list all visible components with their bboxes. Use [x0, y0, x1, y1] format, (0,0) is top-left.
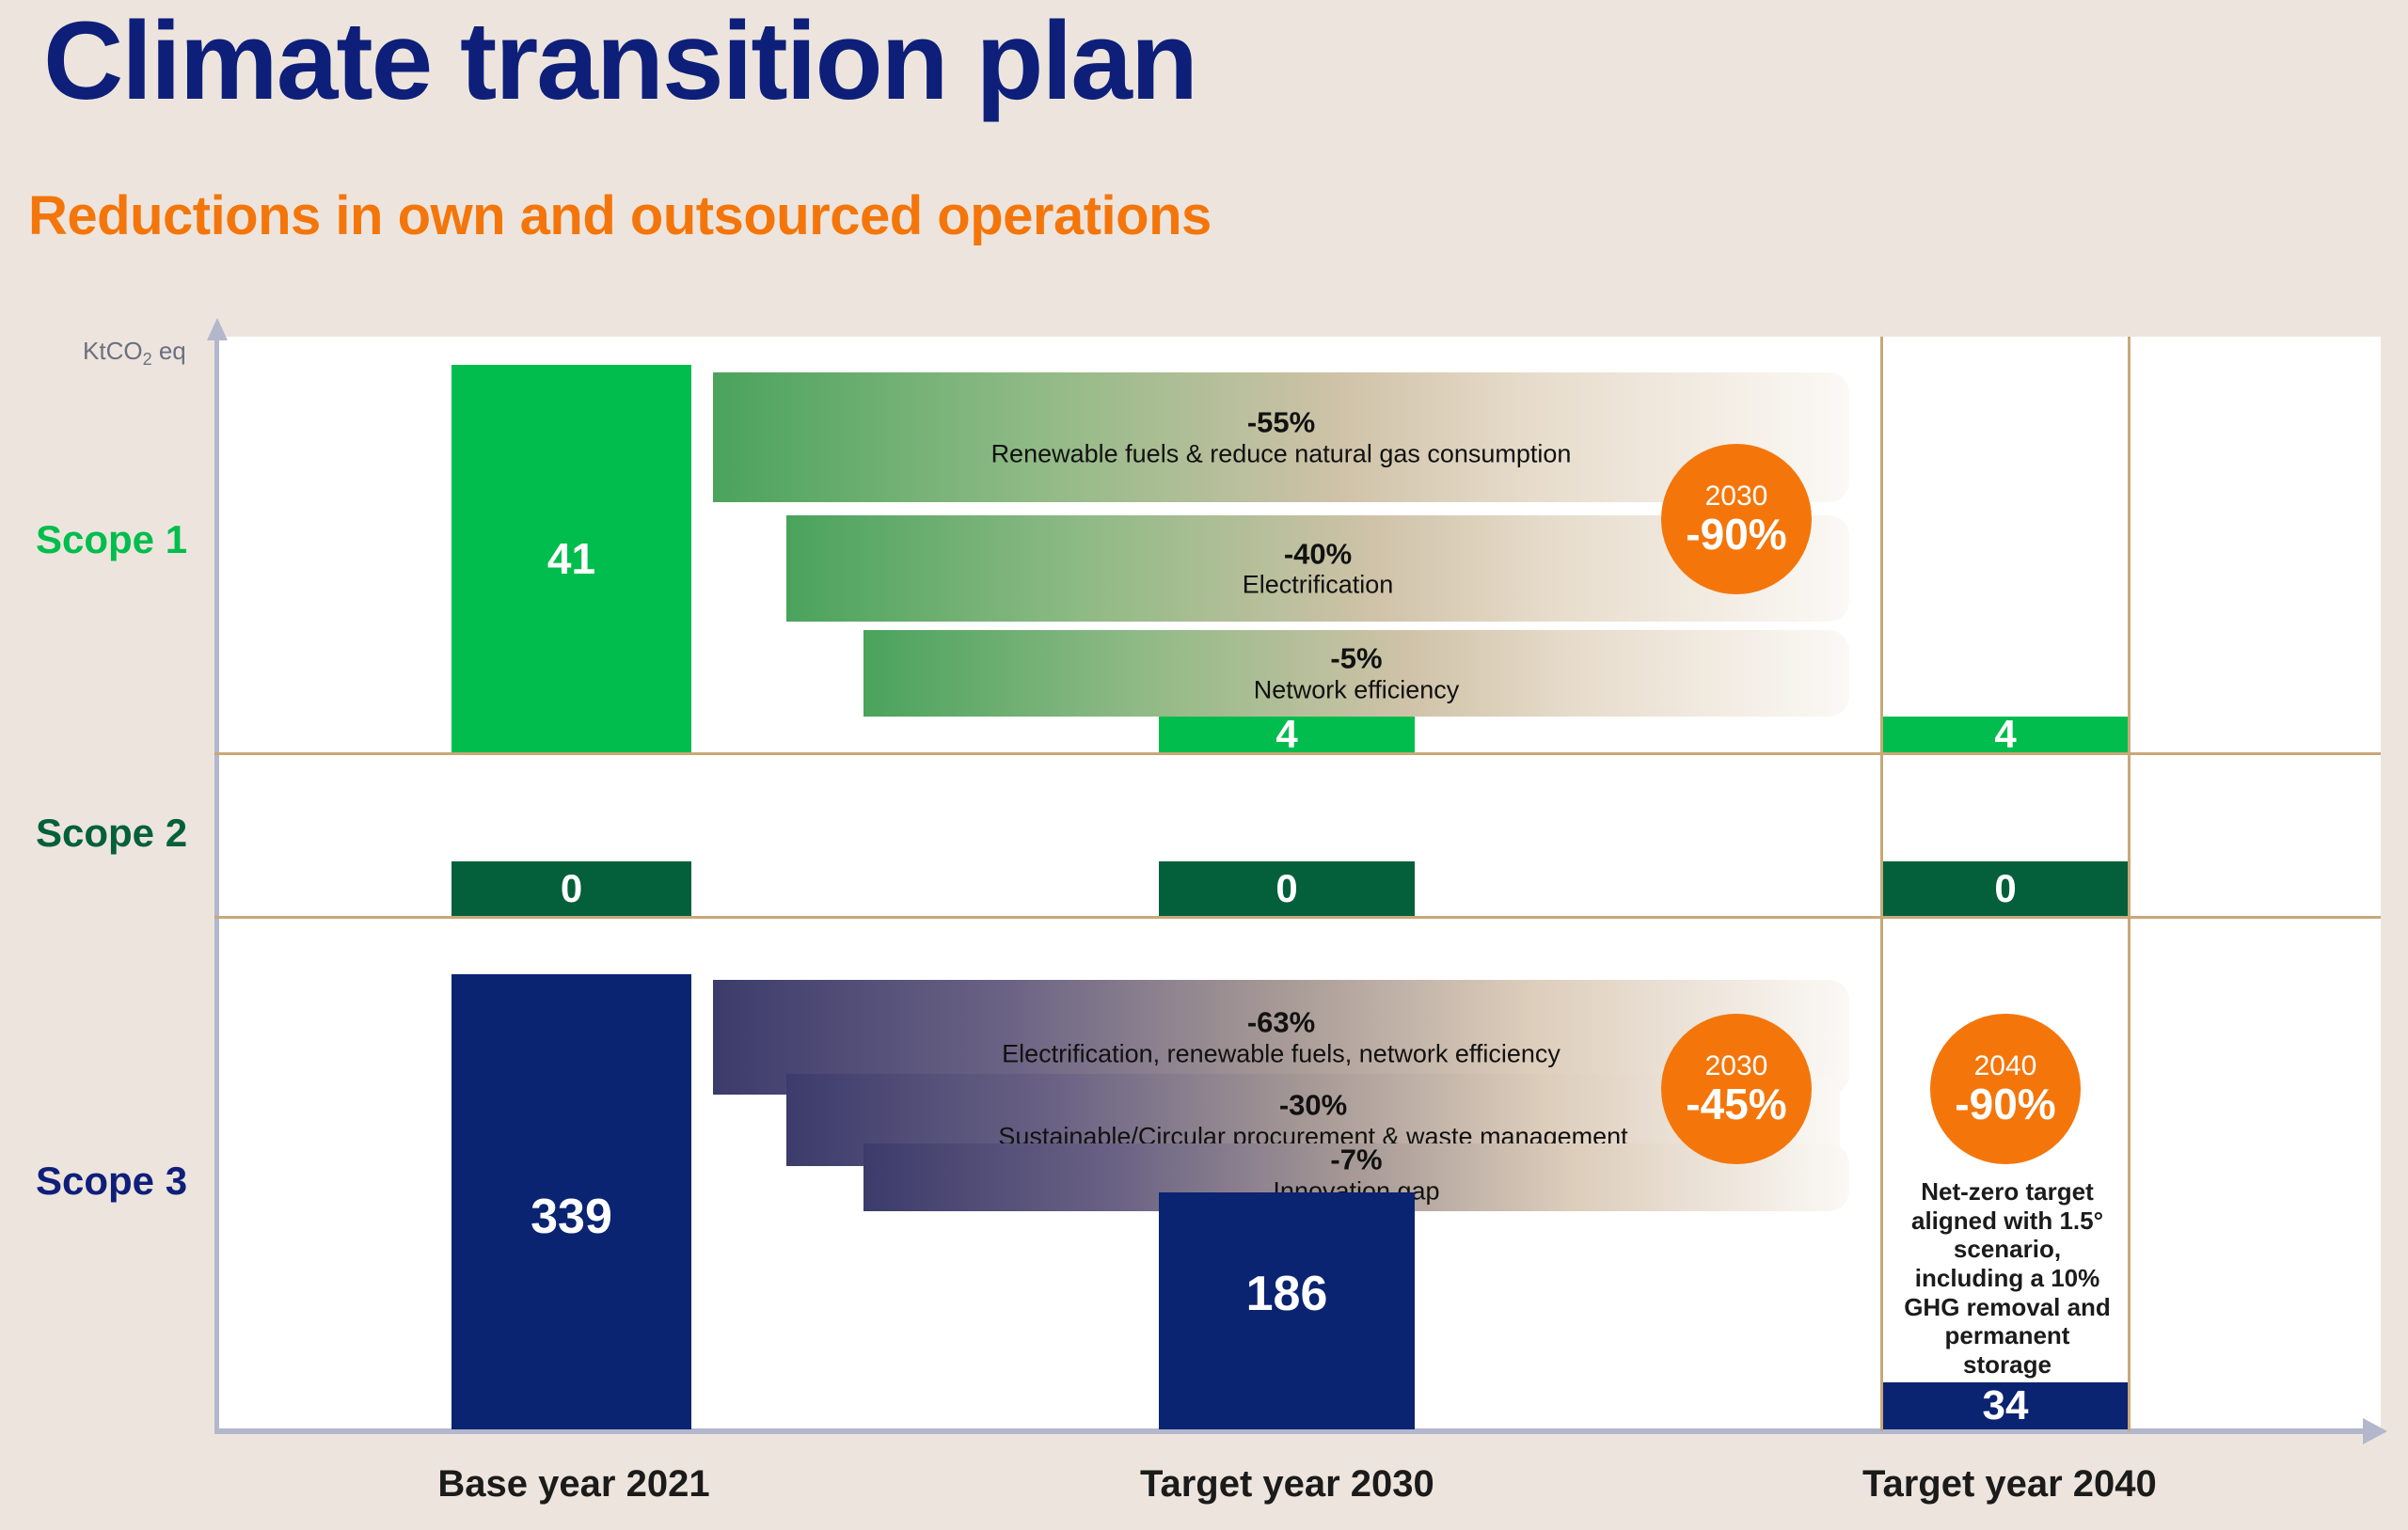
target-year: 2030	[1705, 481, 1768, 512]
scope-divider-2	[214, 916, 2381, 919]
reduction-desc: Network efficiency	[863, 675, 1849, 703]
y-axis-unit-suffix: eq	[152, 337, 186, 365]
x-axis-label-target-year-2030: Target year 2030	[1140, 1463, 1432, 1506]
bar-scope2-2040: 0	[1883, 861, 2128, 916]
target-reduction: -45%	[1686, 1081, 1786, 1127]
x-axis-arrow-icon	[2363, 1418, 2387, 1444]
y-axis-unit-prefix: KtCO	[83, 337, 143, 365]
y-axis-line	[214, 337, 219, 1432]
scope-2-row-label: Scope 2	[36, 811, 187, 856]
bar-value: 186	[1246, 1266, 1328, 1322]
net-zero-note: Net-zero target aligned with 1.5° scenar…	[1900, 1177, 2115, 1380]
y-axis-arrow-icon	[207, 318, 228, 340]
reduction-pct: -63%	[713, 1007, 1849, 1040]
reduction-pct: -5%	[863, 643, 1849, 676]
reduction-bar-scope1-network-efficiency: -5% Network efficiency	[863, 630, 1849, 717]
bar-value: 4	[1275, 712, 1297, 757]
x-axis-label-target-year-2040: Target year 2040	[1862, 1463, 2154, 1506]
bar-scope3-2030: 186	[1159, 1192, 1415, 1429]
reduction-bar-scope1-renewable-fuels-text: -55% Renewable fuels & reduce natural ga…	[713, 407, 1849, 468]
reduction-desc: Renewable fuels & reduce natural gas con…	[713, 439, 1849, 467]
y-axis-unit-subscript: 2	[143, 350, 152, 369]
bar-scope3-2021: 339	[451, 974, 691, 1429]
bar-scope1-2021: 41	[451, 365, 691, 752]
bar-value: 0	[1994, 866, 2016, 911]
reduction-bar-scope1-network-efficiency-text: -5% Network efficiency	[863, 643, 1849, 704]
bar-scope1-2030: 4	[1159, 717, 1415, 752]
bar-value: 41	[547, 533, 595, 584]
target-year: 2040	[1974, 1051, 2037, 1081]
target-reduction: -90%	[1955, 1081, 2055, 1127]
bar-value: 4	[1994, 712, 2016, 757]
bar-value: 0	[561, 866, 582, 911]
target-badge-scope1-2030: 2030 -90%	[1661, 444, 1812, 594]
column-divider-2040-right	[2128, 337, 2131, 1431]
target-badge-scope3-2040: 2040 -90%	[1930, 1014, 2081, 1164]
reduction-pct: -55%	[713, 407, 1849, 440]
bar-scope3-2040: 34	[1883, 1382, 2128, 1429]
bar-value: 34	[1983, 1382, 2029, 1429]
y-axis-unit-label: KtCO2 eq	[83, 337, 186, 370]
x-axis-label-base-year-2021: Base year 2021	[433, 1463, 715, 1506]
page-subtitle: Reductions in own and outsourced operati…	[28, 184, 1212, 247]
bar-scope1-2040: 4	[1883, 717, 2128, 752]
scope-3-row-label: Scope 3	[36, 1159, 187, 1204]
target-year: 2030	[1705, 1051, 1768, 1081]
bar-value: 0	[1275, 866, 1297, 911]
target-badge-scope3-2030: 2030 -45%	[1661, 1014, 1812, 1164]
scope-1-row-label: Scope 1	[36, 517, 187, 562]
bar-scope2-2021: 0	[451, 861, 691, 916]
target-reduction: -90%	[1686, 512, 1786, 557]
bar-scope2-2030: 0	[1159, 861, 1415, 916]
page-title: Climate transition plan	[43, 4, 1196, 120]
bar-value: 339	[531, 1189, 612, 1245]
